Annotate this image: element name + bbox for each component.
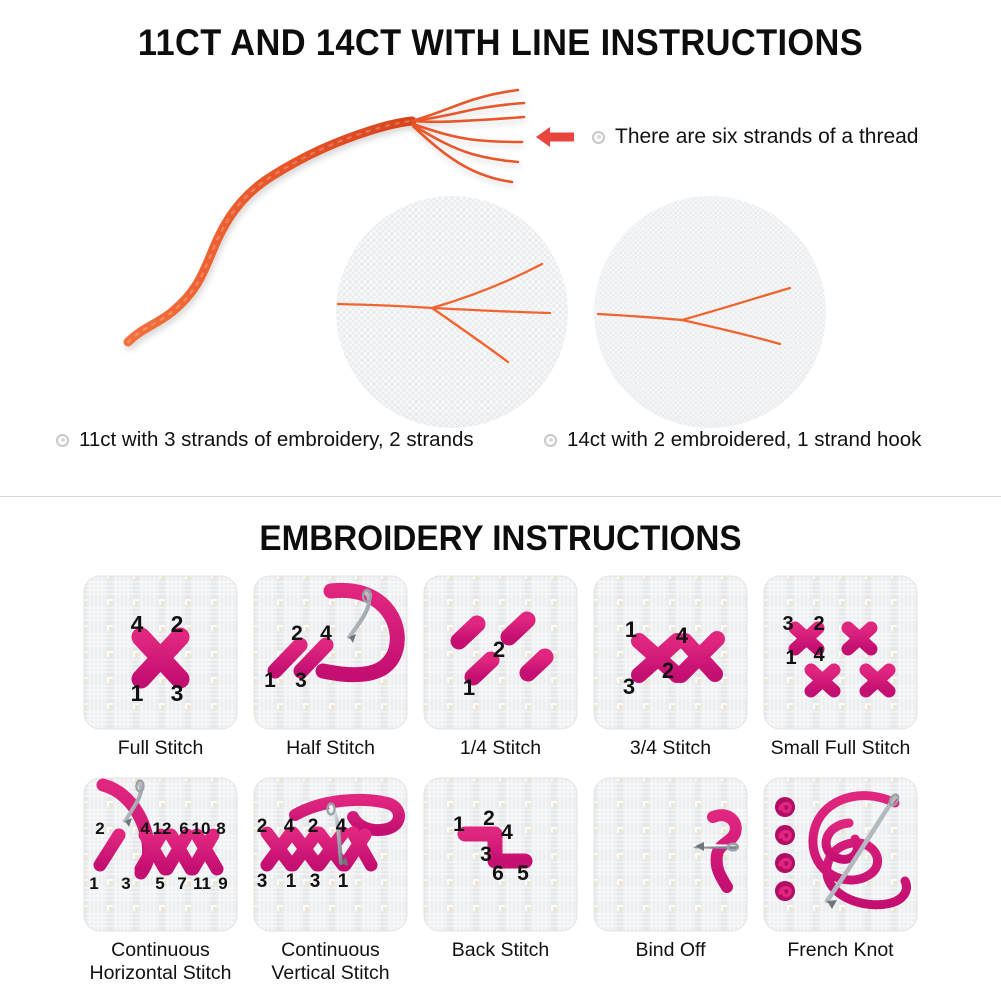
- continuous-horizontal-stitch-diagram: 2 4 12 6 10 8 1 3 5 7 11: [83, 777, 238, 932]
- stitch-number: 1: [785, 647, 796, 669]
- caption-14ct: 14ct with 2 embroidered, 1 strand hook: [544, 428, 921, 452]
- circle-bullet-icon: [592, 131, 605, 144]
- circle-bullet-icon: [544, 434, 557, 447]
- stitch-number: 5: [517, 862, 529, 885]
- stitch-label: Full Stitch: [118, 737, 204, 760]
- stitch-cell-back-stitch[interactable]: 1 2 4 3 6 5 Back Stitch: [423, 777, 578, 985]
- stitch-grid: 4 2 1 3 Full Stitch: [0, 575, 1001, 985]
- full-stitch-diagram: 4 2 1 3: [83, 575, 238, 730]
- stitch-number: 1: [286, 871, 297, 892]
- stitch-number: 4: [320, 622, 332, 645]
- quarter-stitch-diagram: 2 1: [423, 575, 578, 730]
- stitch-cell-continuous-horizontal-stitch[interactable]: 2 4 12 6 10 8 1 3 5 7 11: [83, 777, 238, 985]
- stitch-cell-continuous-vertical-stitch[interactable]: 2 4 2 4 3 1 3 1 Continuous Vertical Sti: [253, 777, 408, 985]
- caption-14ct-text: 14ct with 2 embroidered, 1 strand hook: [567, 428, 921, 452]
- stitch-label: Back Stitch: [452, 939, 550, 962]
- fabric-swatch-14ct: [594, 196, 826, 428]
- stitch-number: 2: [95, 819, 104, 838]
- stitch-cell-half-stitch[interactable]: 2 4 1 3 Half Stitch: [253, 575, 408, 760]
- back-stitch-diagram: 1 2 4 3 6 5: [423, 777, 578, 932]
- stitch-number: 2: [662, 658, 674, 683]
- stitch-number: 3: [121, 874, 130, 893]
- stitch-number: 2: [493, 637, 505, 662]
- caption-11ct-text: 11ct with 3 strands of embroidery, 2 str…: [79, 428, 474, 452]
- stitch-number: 4: [813, 644, 825, 666]
- three-quarter-stitch-diagram: 1 4 3 2: [593, 575, 748, 730]
- stitch-number: 1: [463, 675, 475, 700]
- continuous-vertical-stitch-diagram: 2 4 2 4 3 1 3 1: [253, 777, 408, 932]
- half-stitch-diagram: 2 4 1 3: [253, 575, 408, 730]
- stitch-number: 2: [813, 613, 824, 635]
- stitch-number: 9: [218, 874, 227, 893]
- strand-note-text: There are six strands of a thread: [615, 125, 919, 149]
- stitch-number: 4: [131, 611, 144, 637]
- stitch-number: 3: [310, 871, 321, 892]
- stitch-label: French Knot: [787, 939, 893, 962]
- bind-off-diagram: [593, 777, 748, 932]
- stitch-number: 4: [284, 816, 295, 837]
- stitch-number: 3: [171, 680, 184, 706]
- stitch-number: 2: [171, 611, 184, 637]
- stitch-cell-small-full-stitch[interactable]: 3 2 1 4 Small Full Stitch: [763, 575, 918, 760]
- stitch-cell-full-stitch[interactable]: 4 2 1 3 Full Stitch: [83, 575, 238, 760]
- infographic-page: 11CT AND 14CT WITH LINE INSTRUCTIONS: [0, 0, 1001, 1001]
- stitch-number: 4: [676, 623, 689, 648]
- stitch-label: Continuous Vertical Stitch: [271, 939, 389, 985]
- stitch-number: 3: [295, 669, 307, 692]
- stitch-label: Bind Off: [635, 939, 705, 962]
- section-embroidery-instructions: EMBROIDERY INSTRUCTIONS: [0, 497, 1001, 1001]
- stitch-number: 2: [308, 816, 319, 837]
- stitch-number: 3: [623, 674, 635, 699]
- stitch-number: 3: [782, 613, 793, 635]
- stitch-number: 1: [453, 813, 465, 836]
- stitch-number: 2: [483, 807, 495, 830]
- stitch-number: 3: [480, 843, 492, 866]
- caption-11ct: 11ct with 3 strands of embroidery, 2 str…: [56, 428, 474, 452]
- stitch-number: 4: [336, 816, 347, 837]
- stitch-number: 3: [257, 871, 268, 892]
- stitch-number: 1: [89, 874, 98, 893]
- stitch-number: 2: [291, 622, 303, 645]
- stitch-number: 11: [193, 874, 211, 893]
- section-line-instructions: 11CT AND 14CT WITH LINE INSTRUCTIONS: [0, 0, 1001, 497]
- stitch-number: 1: [264, 669, 276, 692]
- fabric-swatch-11ct: [336, 196, 568, 428]
- stitch-label: Half Stitch: [286, 737, 375, 760]
- stitch-number: 7: [177, 874, 186, 893]
- stitch-number: 1: [625, 617, 637, 642]
- stitch-label: 1/4 Stitch: [460, 737, 541, 760]
- stitch-number: 4: [501, 821, 513, 844]
- swatch-captions: 11ct with 3 strands of embroidery, 2 str…: [0, 428, 1001, 473]
- stitch-row-2: 2 4 12 6 10 8 1 3 5 7 11: [0, 777, 1001, 985]
- stitch-label: Continuous Horizontal Stitch: [90, 939, 232, 985]
- french-knot-diagram: [763, 777, 918, 932]
- stitch-label: Small Full Stitch: [771, 737, 911, 760]
- stitch-number: 2: [257, 816, 268, 837]
- stitch-number: 12: [153, 819, 172, 838]
- stitch-number: 5: [155, 874, 164, 893]
- stitch-number: 6: [179, 819, 188, 838]
- stitch-cell-bind-off[interactable]: Bind Off: [593, 777, 748, 985]
- stitch-number: 10: [192, 819, 211, 838]
- stitch-cell-quarter-stitch[interactable]: 2 1 1/4 Stitch: [423, 575, 578, 760]
- embroidery-title: EMBROIDERY INSTRUCTIONS: [25, 519, 976, 559]
- stitch-number: 8: [216, 819, 225, 838]
- stitch-label: 3/4 Stitch: [630, 737, 711, 760]
- strand-note: There are six strands of a thread: [534, 124, 919, 150]
- circle-bullet-icon: [56, 434, 69, 447]
- small-full-stitch-diagram: 3 2 1 4: [763, 575, 918, 730]
- stitch-number: 6: [492, 862, 504, 885]
- arrow-left-icon: [534, 124, 576, 150]
- stitch-cell-three-quarter-stitch[interactable]: 1 4 3 2 3/4 Stitch: [593, 575, 748, 760]
- stitch-cell-french-knot[interactable]: French Knot: [763, 777, 918, 985]
- stitch-number: 4: [140, 819, 150, 838]
- stitch-number: 1: [131, 680, 144, 706]
- stitch-row-1: 4 2 1 3 Full Stitch: [0, 575, 1001, 760]
- stitch-number: 1: [338, 871, 349, 892]
- page-title: 11CT AND 14CT WITH LINE INSTRUCTIONS: [35, 22, 966, 64]
